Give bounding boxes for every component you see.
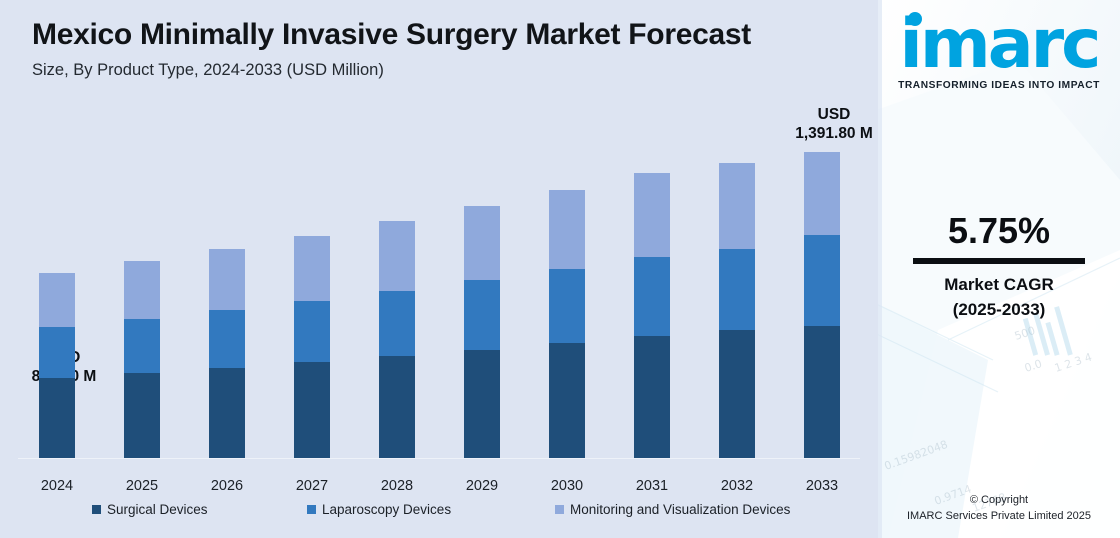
bar-segment[interactable]: [294, 362, 330, 458]
copyright-line-1: © Copyright: [878, 492, 1120, 508]
bar-segment[interactable]: [379, 291, 415, 356]
bar-segment[interactable]: [464, 206, 500, 280]
legend-item-monitoring-visualization-devices[interactable]: Monitoring and Visualization Devices: [555, 502, 790, 517]
bar-group[interactable]: 2032: [719, 0, 804, 538]
bar-segment[interactable]: [634, 336, 670, 458]
legend-item-laparoscopy-devices[interactable]: Laparoscopy Devices: [307, 502, 555, 517]
bar-segment[interactable]: [804, 235, 840, 327]
bar-group[interactable]: 2030: [549, 0, 634, 538]
bar-group[interactable]: 2033: [804, 0, 889, 538]
copyright-line-2: IMARC Services Private Limited 2025: [878, 508, 1120, 524]
stacked-bar[interactable]: [719, 163, 755, 458]
chart-legend: Surgical Devices Laparoscopy Devices Mon…: [92, 502, 790, 517]
bar-segment[interactable]: [124, 319, 160, 373]
stacked-bar[interactable]: [124, 261, 160, 458]
legend-swatch-icon: [307, 505, 316, 514]
cagr-period: (2025-2033): [878, 297, 1120, 322]
infographic-root: Mexico Minimally Invasive Surgery Market…: [0, 0, 1120, 538]
bar-group[interactable]: 2028: [379, 0, 464, 538]
bar-segment[interactable]: [39, 378, 75, 458]
branding-panel: 500 0.0 1 2 3 4 0.15982048 0.9714 12768 …: [878, 0, 1120, 538]
bar-segment[interactable]: [549, 190, 585, 268]
bar-segment[interactable]: [804, 152, 840, 235]
stacked-bar[interactable]: [209, 249, 245, 458]
x-axis-tick-label: 2029: [444, 478, 520, 494]
bar-segment[interactable]: [719, 330, 755, 458]
bar-segment[interactable]: [124, 261, 160, 319]
bar-segment[interactable]: [719, 163, 755, 249]
bar-segment[interactable]: [209, 368, 245, 458]
cagr-block: 5.75% Market CAGR (2025-2033): [878, 210, 1120, 322]
bar-segment[interactable]: [634, 257, 670, 336]
x-axis-tick-label: 2031: [614, 478, 690, 494]
legend-item-surgical-devices[interactable]: Surgical Devices: [92, 502, 307, 517]
stacked-bar[interactable]: [379, 221, 415, 458]
bar-group[interactable]: 2025: [124, 0, 209, 538]
x-axis-tick-label: 2032: [699, 478, 775, 494]
x-axis-tick-label: 2025: [104, 478, 180, 494]
cagr-label: Market CAGR: [878, 272, 1120, 297]
bar-group[interactable]: 2031: [634, 0, 719, 538]
brand-logo: imarc TRANSFORMING IDEAS INTO IMPACT: [878, 8, 1120, 91]
x-axis-tick-label: 2027: [274, 478, 350, 494]
bar-segment[interactable]: [804, 326, 840, 458]
x-axis-tick-label: 2033: [784, 478, 860, 494]
bar-segment[interactable]: [209, 310, 245, 368]
x-axis-tick-label: 2030: [529, 478, 605, 494]
legend-label: Laparoscopy Devices: [322, 502, 451, 517]
cagr-divider: [913, 258, 1085, 264]
logo-text: imarc: [900, 5, 1099, 84]
chart-panel: Mexico Minimally Invasive Surgery Market…: [0, 0, 878, 538]
plot-area: USD 841.50 M USD 1,391.80 M 202420252026…: [0, 0, 878, 538]
bar-group[interactable]: 2026: [209, 0, 294, 538]
bar-group[interactable]: 2029: [464, 0, 549, 538]
x-axis-tick-label: 2026: [189, 478, 265, 494]
stacked-bar[interactable]: [804, 152, 840, 458]
bar-group[interactable]: 2024: [39, 0, 124, 538]
bar-segment[interactable]: [209, 249, 245, 310]
legend-swatch-icon: [92, 505, 101, 514]
legend-label: Monitoring and Visualization Devices: [570, 502, 790, 517]
bar-segment[interactable]: [379, 221, 415, 290]
bar-segment[interactable]: [719, 249, 755, 331]
x-axis-tick-label: 2024: [19, 478, 95, 494]
bar-segment[interactable]: [294, 301, 330, 363]
cagr-value: 5.75%: [878, 210, 1120, 252]
stacked-bar[interactable]: [294, 236, 330, 459]
bar-segment[interactable]: [634, 173, 670, 256]
bar-segment[interactable]: [464, 280, 500, 350]
legend-label: Surgical Devices: [107, 502, 208, 517]
legend-swatch-icon: [555, 505, 564, 514]
stacked-bar[interactable]: [464, 206, 500, 458]
bar-segment[interactable]: [549, 269, 585, 343]
stacked-bar[interactable]: [549, 190, 585, 458]
stacked-bar[interactable]: [634, 173, 670, 458]
bar-group[interactable]: 2027: [294, 0, 379, 538]
bar-segment[interactable]: [549, 343, 585, 458]
bar-segment[interactable]: [379, 356, 415, 458]
x-axis-tick-label: 2028: [359, 478, 435, 494]
bar-segment[interactable]: [124, 373, 160, 458]
logo-dot-icon: [908, 12, 922, 26]
bar-segment[interactable]: [294, 236, 330, 301]
bar-segment[interactable]: [39, 273, 75, 327]
copyright-notice: © Copyright IMARC Services Private Limit…: [878, 492, 1120, 524]
bar-segment[interactable]: [464, 350, 500, 458]
stacked-bar[interactable]: [39, 273, 75, 458]
imarc-wordmark: imarc: [900, 8, 1099, 82]
bar-segment[interactable]: [39, 327, 75, 378]
